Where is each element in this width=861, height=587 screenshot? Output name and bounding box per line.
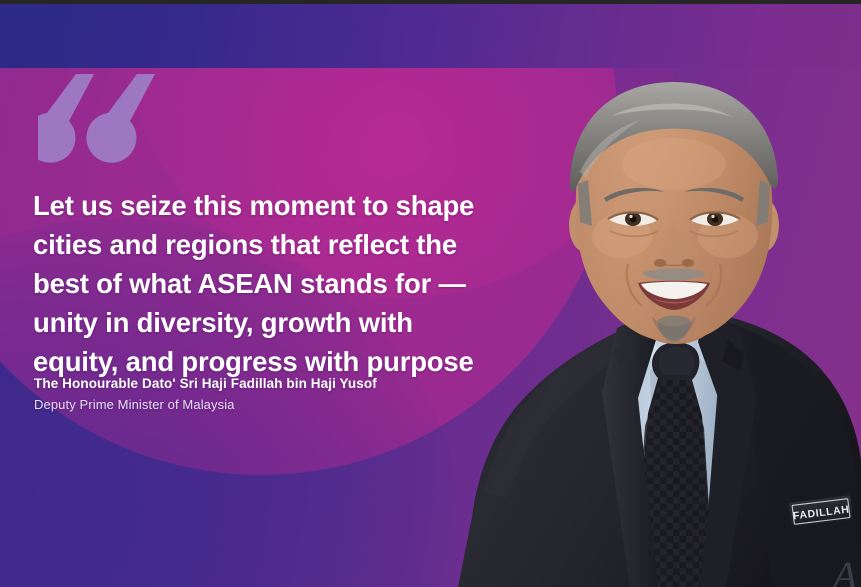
top-dark-strip [0,0,861,4]
attribution: The Honourable Dato' Sri Haji Fadillah b… [34,374,377,414]
speaker-role: Deputy Prime Minister of Malaysia [34,395,377,414]
quote-text: Let us seize this moment to shape cities… [33,186,503,381]
double-quote-icon [38,74,160,169]
speaker-name: The Honourable Dato' Sri Haji Fadillah b… [34,374,377,393]
speaker-portrait: FADILLAH [452,68,861,587]
header-gradient-band [0,4,861,68]
quote-slide: Let us seize this moment to shape cities… [0,0,861,587]
